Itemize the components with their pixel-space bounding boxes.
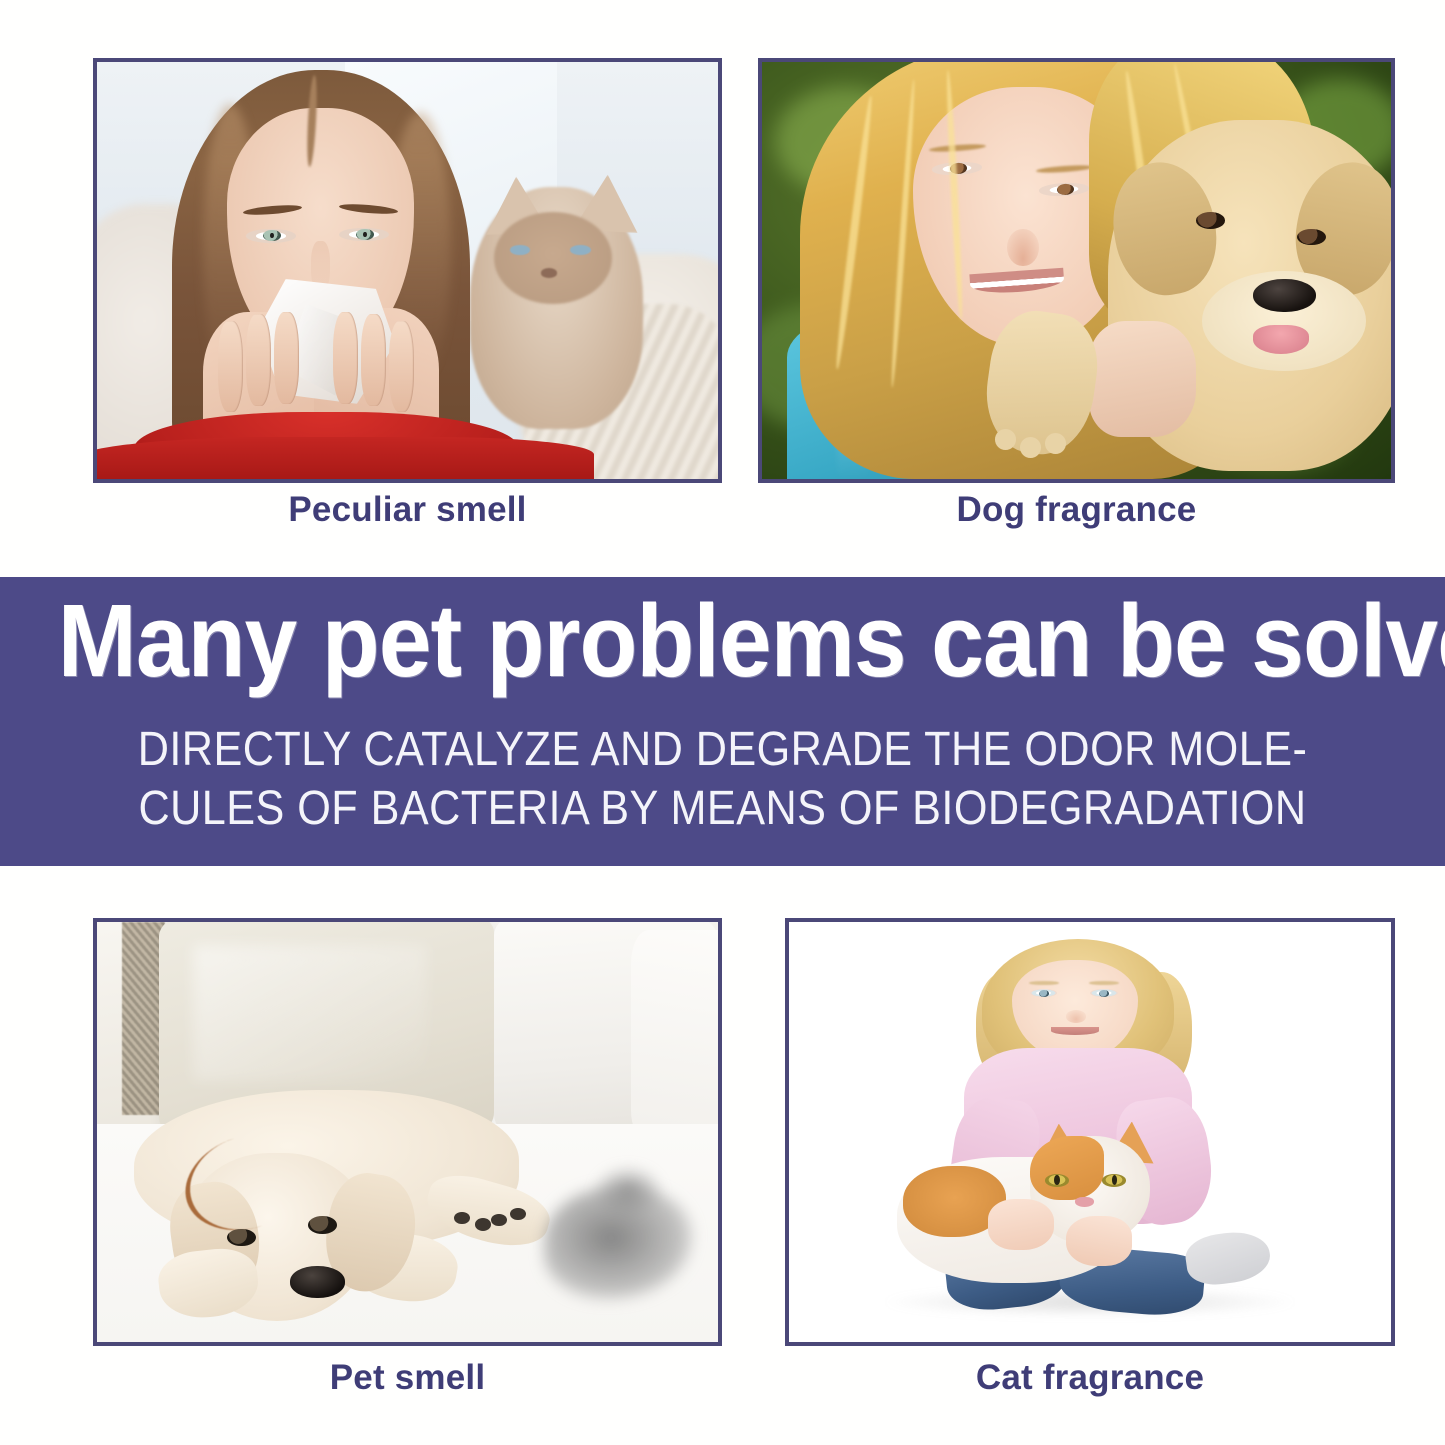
finger [333,312,358,404]
puppy-nose [290,1266,346,1298]
iris-right [356,229,374,241]
nose [1007,229,1038,267]
puppy-eye-left [1196,212,1225,229]
woman-tissue-cat-photo [97,62,718,479]
pupil-left [270,233,274,239]
iris-right [1057,183,1075,195]
finger [389,321,414,413]
banner-subline: DIRECTLY CATALYZE AND DEGRADE THE ODOR M… [72,721,1373,838]
banner-headline: Many pet problems can be solved [58,588,1387,693]
finger [218,321,243,413]
girl-puppy-photo [762,62,1391,479]
cat-eye-left [1045,1174,1069,1187]
photo-frame-cat-fragrance [785,918,1395,1346]
nose [1066,1010,1086,1023]
finger [246,314,271,406]
panel-top-right: Dog fragrance [758,58,1395,483]
iris-left [263,230,281,242]
caption-cat-fragrance: Cat fragrance [785,1358,1395,1398]
puppy-toe [995,429,1016,450]
caption-pet-smell: Pet smell [93,1358,722,1398]
iris-left [1039,990,1048,997]
pupil-right [363,232,367,238]
girl-cat-photo [789,922,1391,1342]
puppy-eye-right [308,1216,337,1234]
sock [1183,1227,1273,1289]
puppy-eye-left [227,1229,256,1247]
finger [274,312,299,404]
cat-pupil-right [1112,1175,1117,1185]
photo-frame-pet-smell [93,918,722,1346]
product-infographic-page: Peculiar smell [0,0,1445,1445]
puppy-tongue [1253,325,1310,354]
puppy-nose [1253,279,1316,312]
red-sweater-lower [97,437,594,479]
cat-face [494,212,612,304]
finger [361,314,386,406]
photo-frame-peculiar-smell [93,58,722,483]
eye-left [246,229,296,243]
panel-top-left: Peculiar smell [93,58,722,483]
paw-pad [510,1208,526,1221]
photo-frame-dog-fragrance [758,58,1395,483]
cat-pupil-left [1054,1175,1059,1185]
paw-pad [475,1218,491,1231]
caption-peculiar-smell: Peculiar smell [93,490,722,530]
caption-dog-fragrance: Dog fragrance [758,490,1395,530]
iris-right [1099,990,1108,997]
girl-hand-left [988,1199,1054,1249]
cat-nose [541,268,557,277]
eyebrow-right [1089,981,1119,985]
puppy-eye-right [1297,229,1326,246]
puppy-sofa-stain-photo [97,922,718,1342]
girl-hand-right [1066,1216,1132,1266]
eye-right [339,228,389,242]
eyebrow-left [1029,981,1059,985]
panel-bottom-left: Pet smell [93,918,722,1346]
cat-eye-right [1102,1174,1126,1187]
promo-banner: Many pet problems can be solved DIRECTLY… [0,577,1445,866]
girl-hand [1089,321,1196,438]
panel-bottom-right: Cat fragrance [785,918,1395,1346]
sofa-pillow-far-right [631,930,718,1140]
